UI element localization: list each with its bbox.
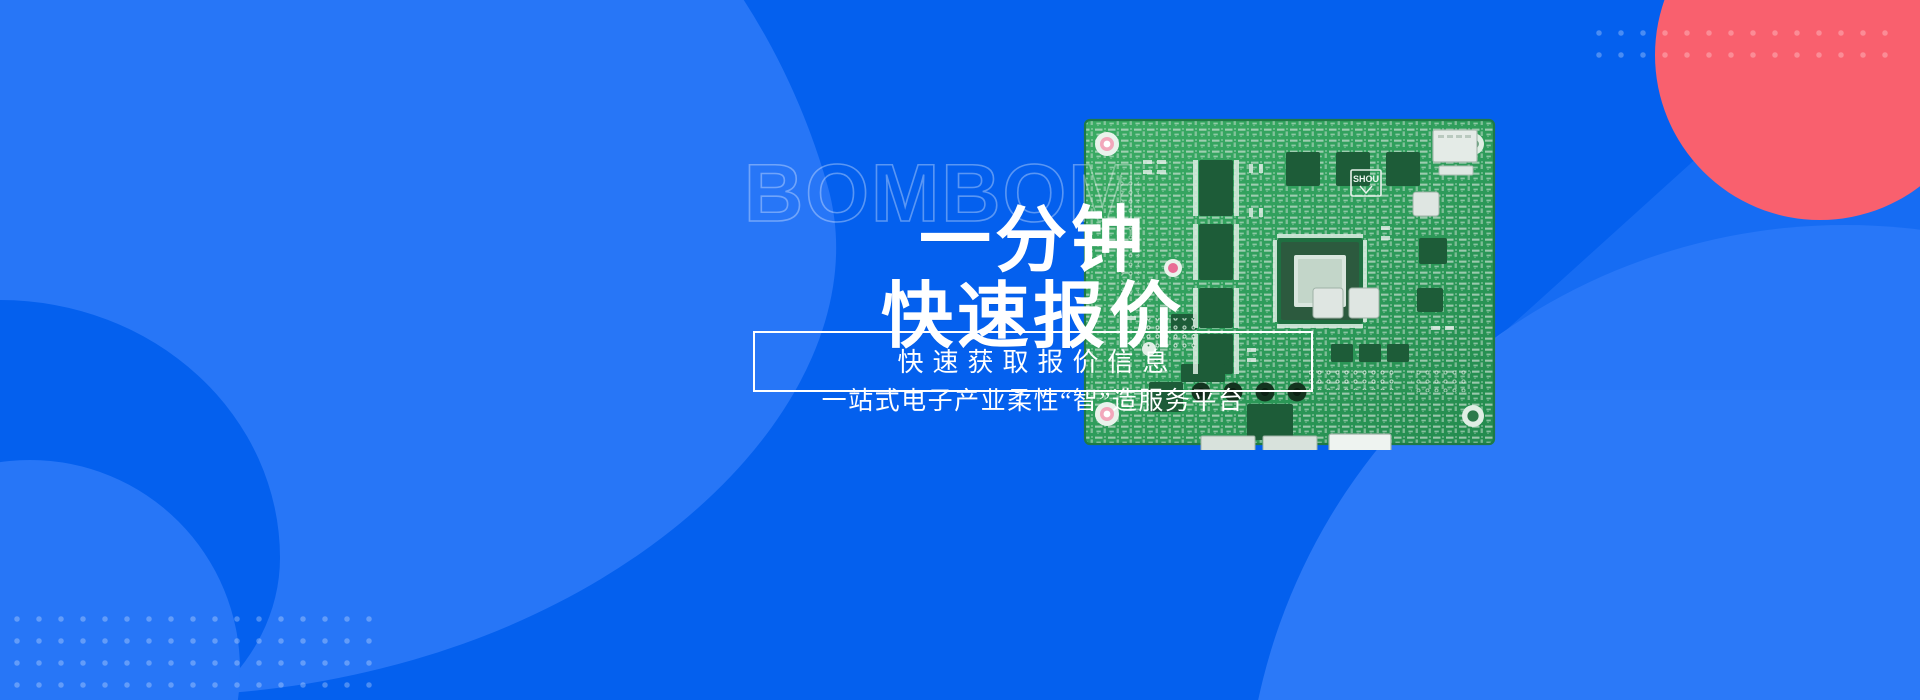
headline-line-1: 一分钟 (753, 203, 1313, 279)
banner-copy: BOMBOM 一分钟 快速报价 快速获取报价信息 一站式电子产业柔性“智”造服务… (0, 0, 1920, 700)
promo-banner: SHOU (0, 0, 1920, 700)
tagline-text: 一站式电子产业柔性“智”造服务平台 (688, 381, 1378, 417)
